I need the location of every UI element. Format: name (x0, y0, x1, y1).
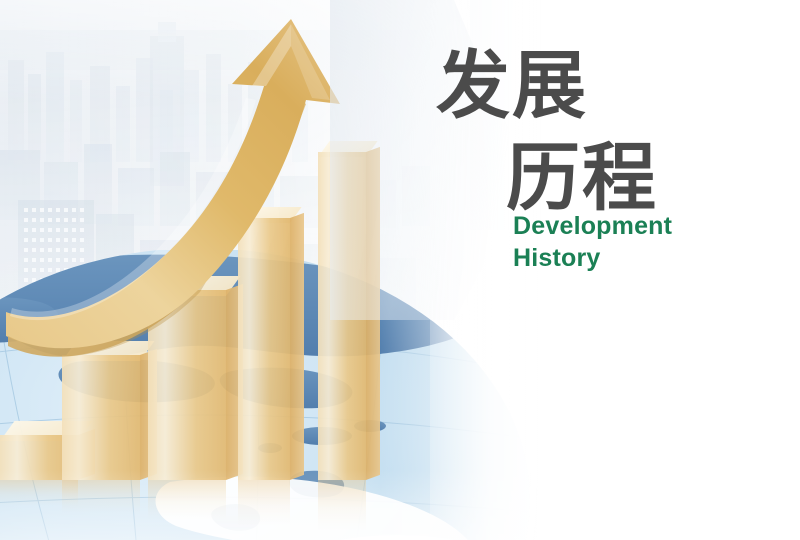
bar-4-reflection (238, 480, 290, 526)
bar-2-reflection (62, 480, 140, 514)
banner-stage: 发展 历程 Development History (0, 0, 800, 540)
bar-3-reflection (148, 480, 226, 520)
headline-chinese-line-2: 历程 (506, 118, 658, 225)
bar-5-reflection (318, 480, 366, 532)
headline-english-line-2: History (513, 244, 601, 273)
headline-chinese-line-1: 发展 (436, 26, 588, 133)
headline-english-line-1: Development (513, 212, 672, 241)
